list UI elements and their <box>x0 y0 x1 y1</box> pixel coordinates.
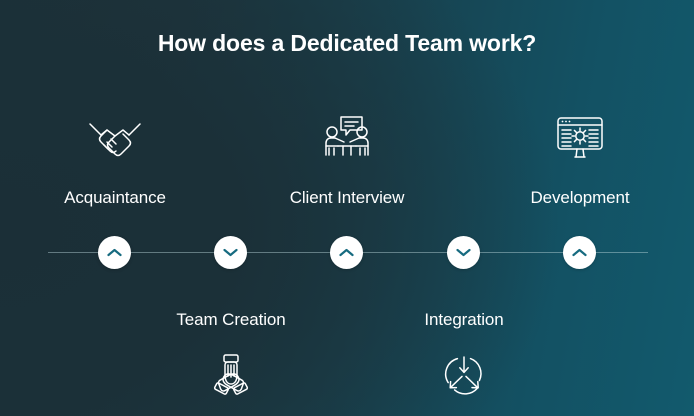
chevron-down-icon <box>223 248 238 257</box>
step-client-interview: Client Interview <box>267 112 427 208</box>
chevron-up-icon <box>339 248 354 257</box>
chevron-up-icon <box>107 248 122 257</box>
step-label: Acquaintance <box>35 188 195 208</box>
step-label: Integration <box>384 310 544 330</box>
timeline-node-client-interview[interactable] <box>330 236 363 269</box>
step-label: Client Interview <box>267 188 427 208</box>
interview-icon <box>267 112 427 164</box>
step-label: Team Creation <box>151 310 311 330</box>
joined-hands-icon <box>151 348 311 400</box>
monitor-gear-icon <box>500 112 660 164</box>
step-acquaintance: Acquaintance <box>35 112 195 208</box>
infographic-slide: How does a Dedicated Team work? Acquaint… <box>0 0 694 416</box>
timeline-node-integration[interactable] <box>447 236 480 269</box>
page-title: How does a Dedicated Team work? <box>0 30 694 57</box>
step-label: Development <box>500 188 660 208</box>
timeline-node-development[interactable] <box>563 236 596 269</box>
timeline-node-acquaintance[interactable] <box>98 236 131 269</box>
step-development: Development <box>500 112 660 208</box>
chevron-up-icon <box>572 248 587 257</box>
step-integration: Integration <box>384 310 544 400</box>
timeline-node-team-creation[interactable] <box>214 236 247 269</box>
converging-arrows-icon <box>384 348 544 400</box>
handshake-icon <box>35 112 195 164</box>
step-team-creation: Team Creation <box>151 310 311 400</box>
chevron-down-icon <box>456 248 471 257</box>
